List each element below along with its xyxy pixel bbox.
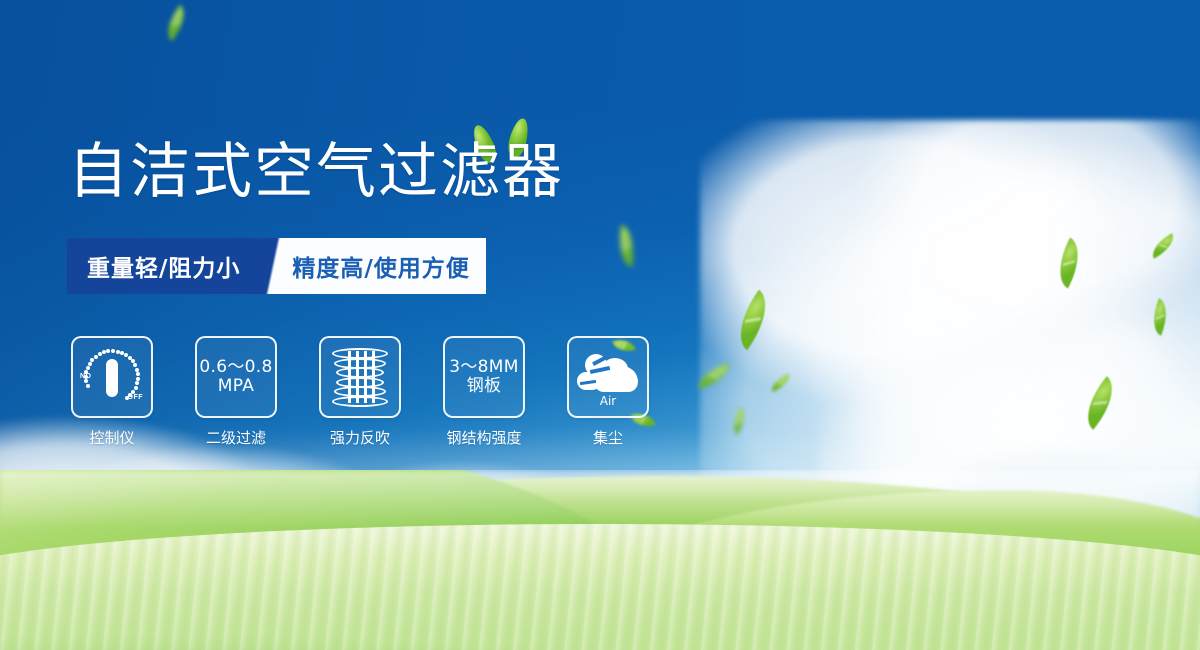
feature-item-backflush[interactable]: 强力反吹 <box>316 336 404 448</box>
feature-icon-box: Air <box>567 336 649 418</box>
filter-bar <box>348 351 351 403</box>
gauge-icon: NO OFF <box>80 345 144 409</box>
feature-icon-box <box>319 336 401 418</box>
feature-icon-box: 3〜8MM 钢板 <box>443 336 525 418</box>
gauge-dot <box>98 352 102 356</box>
feature-icon-box: NO OFF <box>71 336 153 418</box>
feature-item-steel-strength[interactable]: 3〜8MM 钢板 钢结构强度 <box>440 336 528 448</box>
filter-bar <box>372 351 375 403</box>
gauge-dot <box>116 350 120 354</box>
feature-label: 钢结构强度 <box>446 427 521 448</box>
gauge-dot <box>84 379 88 383</box>
air-label: Air <box>576 394 640 408</box>
feature-item-controller[interactable]: NO OFF 控制仪 <box>68 336 156 448</box>
pressure-line-2: MPA <box>199 377 272 396</box>
gauge-dot <box>94 355 98 359</box>
gauge-dot <box>135 368 139 372</box>
feature-label: 控制仪 <box>89 427 134 448</box>
filter-stack-icon <box>332 348 388 406</box>
product-banner: 自洁式空气过滤器 重量轻/阻力小 精度高/使用方便 NO OFF 控制仪 0.6… <box>0 0 1200 650</box>
gauge-dot <box>111 349 115 353</box>
cloud-air-icon: Air <box>576 348 640 406</box>
pressure-line-1: 0.6〜0.8 <box>199 358 272 377</box>
feature-label: 强力反吹 <box>330 427 390 448</box>
subtitle-separator <box>262 238 284 294</box>
subtitle-right: 精度高/使用方便 <box>284 238 485 294</box>
gauge-dot <box>86 384 90 388</box>
steel-line-1: 3〜8MM <box>449 358 518 377</box>
gauge-dot <box>88 362 92 366</box>
feature-icon-box: 0.6〜0.8 MPA <box>195 336 277 418</box>
steel-line-2: 钢板 <box>449 377 518 396</box>
gauge-needle <box>106 359 118 397</box>
steel-text-icon: 3〜8MM 钢板 <box>449 358 518 396</box>
feature-label: 集尘 <box>593 427 623 448</box>
gauge-dot <box>134 386 138 390</box>
grass-horizon-glow <box>0 470 1200 530</box>
pressure-text-icon: 0.6〜0.8 MPA <box>199 358 272 396</box>
gauge-label-off: OFF <box>128 394 144 401</box>
filter-ring <box>332 396 388 407</box>
gauge-label-no: NO <box>80 373 92 380</box>
grass-shadow <box>0 524 1200 650</box>
subtitle-left: 重量轻/阻力小 <box>67 238 262 294</box>
feature-list: NO OFF 控制仪 0.6〜0.8 MPA 二级过滤 强力反吹 <box>68 336 652 448</box>
gauge-dot <box>136 377 140 381</box>
page-title: 自洁式空气过滤器 <box>68 142 564 202</box>
grass-field <box>0 470 1200 650</box>
gauge-dot <box>136 372 140 376</box>
subtitle-bar: 重量轻/阻力小 精度高/使用方便 <box>67 238 486 294</box>
feature-item-dust-collection[interactable]: Air 集尘 <box>564 336 652 448</box>
gauge-dot <box>135 381 139 385</box>
filter-bar <box>356 351 359 403</box>
feature-label: 二级过滤 <box>206 427 266 448</box>
gauge-dot <box>102 350 106 354</box>
filter-bar <box>364 351 367 403</box>
gauge-dot <box>106 349 110 353</box>
gauge-dot <box>133 363 137 367</box>
gauge-dot <box>86 366 90 370</box>
feature-item-two-stage-filter[interactable]: 0.6〜0.8 MPA 二级过滤 <box>192 336 280 448</box>
